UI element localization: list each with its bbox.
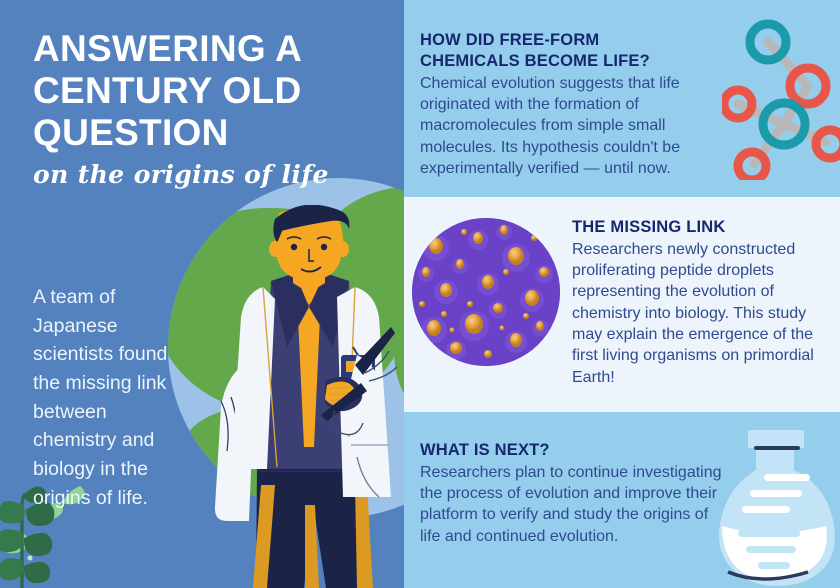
panel-mid-heading: THE MISSING LINK [572,217,824,238]
panel-mid-body: Researchers newly constructed proliferat… [572,239,824,388]
title-line-2: Century Old [33,70,363,112]
panel-mid-text-block: THE MISSING LINK Researchers newly const… [572,217,824,388]
panel-what-is-next: WHAT IS NEXT? Researchers plan to contin… [404,412,840,588]
molecule-icon [722,12,840,180]
page-subtitle: on the origins of life [33,160,363,189]
panel-top-body: Chemical evolution suggests that life or… [420,73,698,179]
title-line-3: Question [33,112,363,154]
content-column: HOW DID FREE-FORM CHEMICALS BECOME LIFE?… [404,0,840,588]
panel-top-text-block: HOW DID FREE-FORM CHEMICALS BECOME LIFE?… [420,30,698,179]
droplets-texture [412,218,560,366]
scientist-character-illustration [205,205,404,588]
panel-bottom-text-block: WHAT IS NEXT? Researchers plan to contin… [420,440,730,547]
flask-icon [698,422,840,588]
panel-top-heading: HOW DID FREE-FORM CHEMICALS BECOME LIFE? [420,30,698,72]
hero-body-text: A team of Japanese scientists found the … [33,283,191,512]
panel-how-did-free-form-chemicals-become-life: HOW DID FREE-FORM CHEMICALS BECOME LIFE?… [404,0,840,197]
infographic-poster: Answering a Century Old Question on the … [0,0,840,588]
panel-bottom-heading: WHAT IS NEXT? [420,440,730,461]
page-title: Answering a Century Old Question on the … [33,28,363,189]
panel-the-missing-link: THE MISSING LINK Researchers newly const… [404,197,840,412]
title-line-1: Answering a [33,28,363,70]
peptide-droplets-image [412,218,560,366]
panel-bottom-body: Researchers plan to continue investigati… [420,462,730,547]
hero-column: Answering a Century Old Question on the … [0,0,404,588]
